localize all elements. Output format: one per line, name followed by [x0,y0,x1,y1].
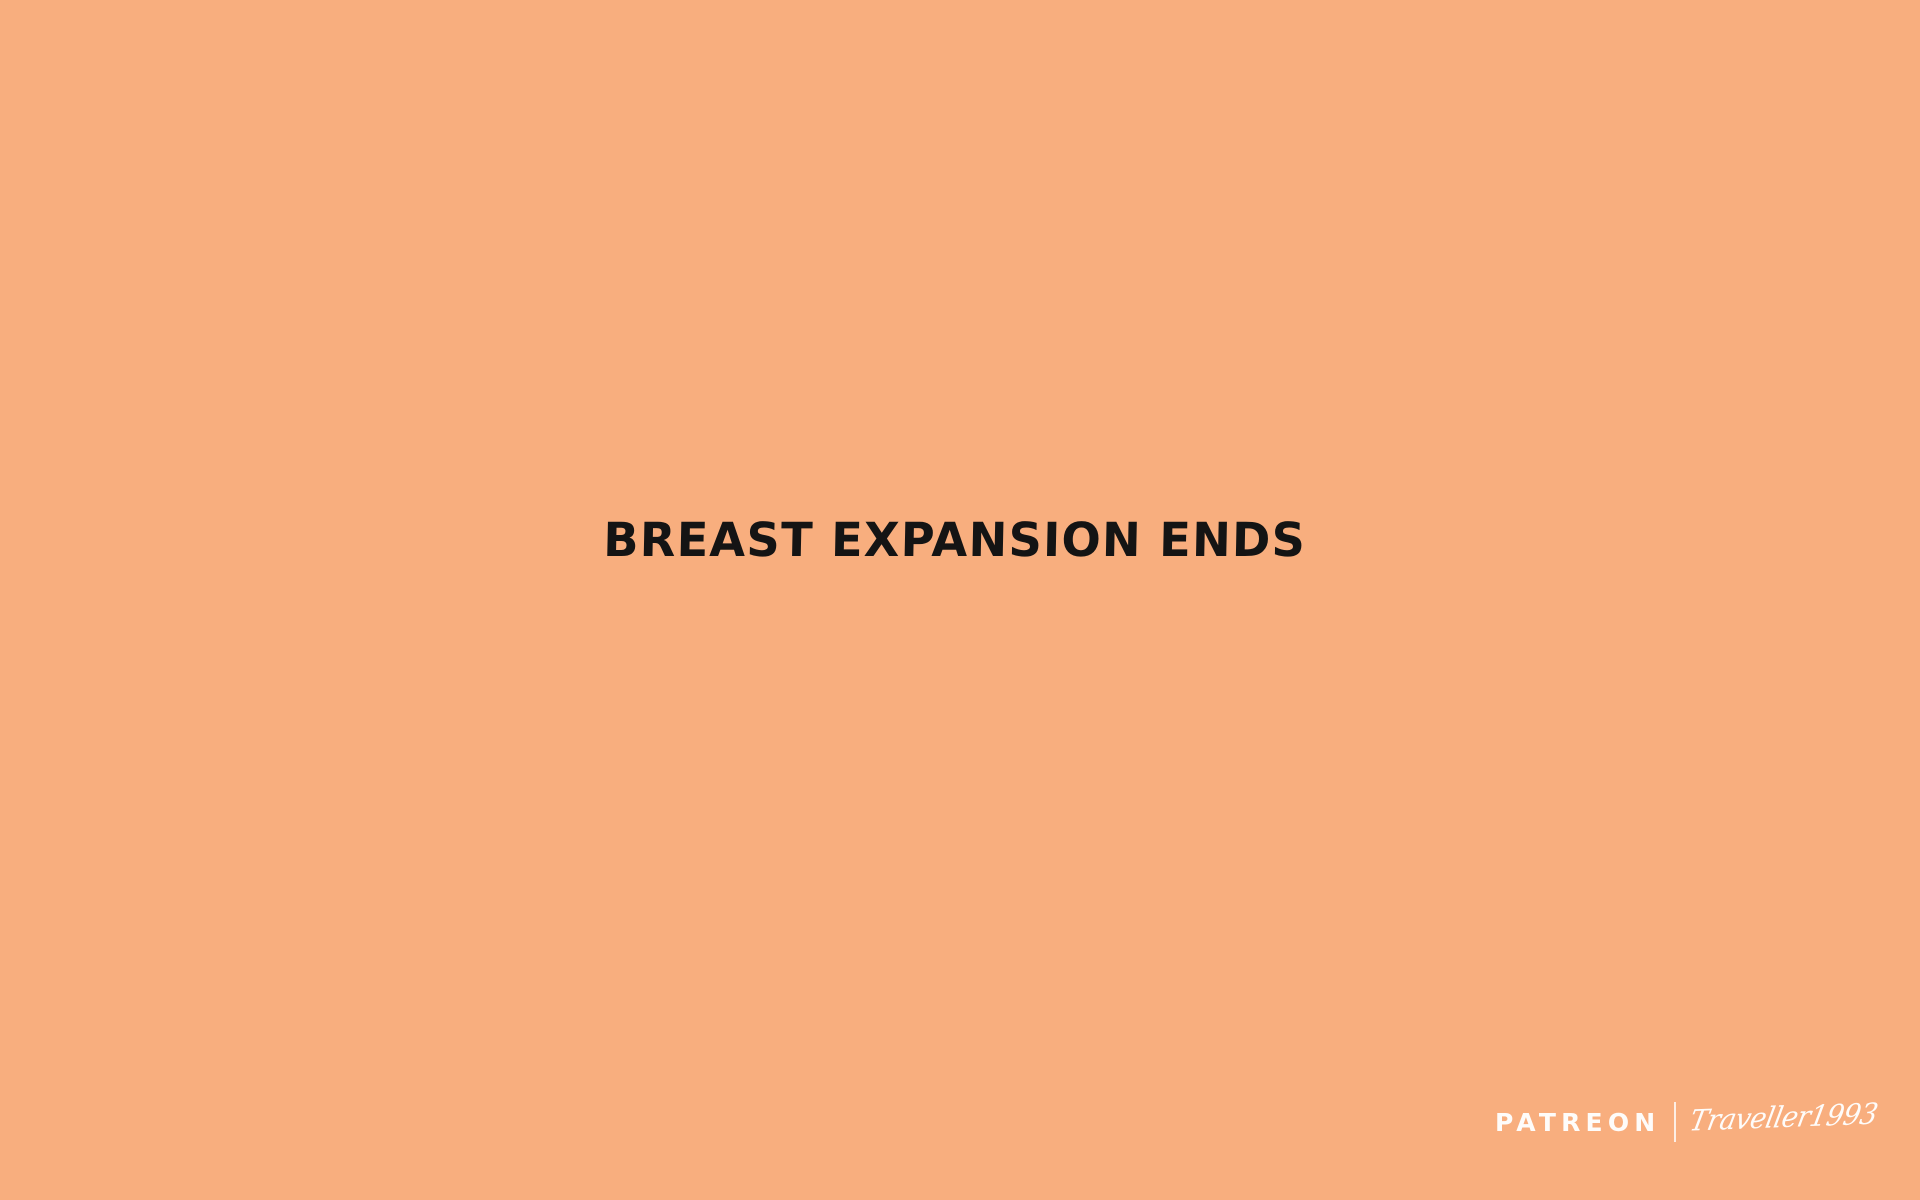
patreon-wordmark: PATREON [1495,1110,1662,1135]
creator-signature: Traveller1993 [1688,1099,1880,1135]
page-title: BREAST EXPANSION ENDS [603,517,1307,564]
title-block: BREAST EXPANSION ENDS [0,0,1920,1200]
patreon-watermark: PATREON Traveller1993 [1495,1098,1876,1146]
title-card: BREAST EXPANSION ENDS PATREON Traveller1… [0,0,1920,1200]
watermark-divider [1674,1102,1676,1142]
